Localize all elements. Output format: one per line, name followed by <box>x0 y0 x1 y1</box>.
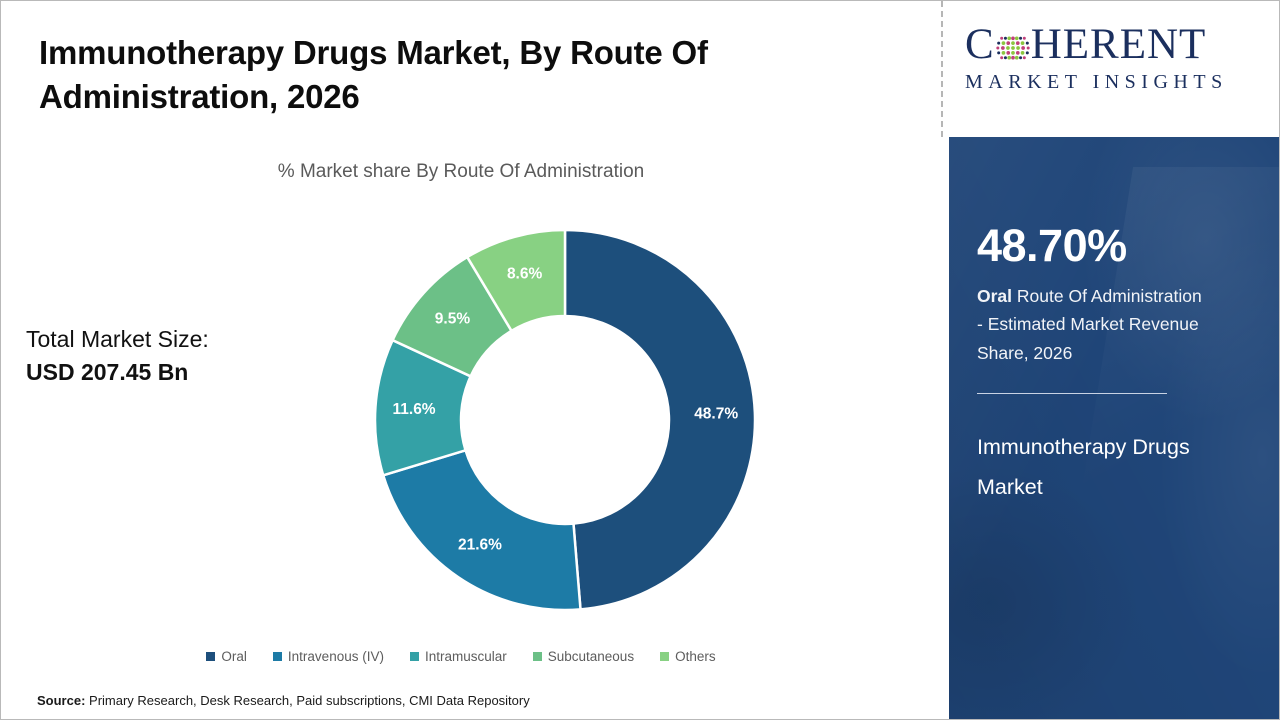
total-market-size: Total Market Size: USD 207.45 Bn <box>26 323 316 390</box>
source-text: Primary Research, Desk Research, Paid su… <box>85 693 529 708</box>
logo-tagline: MARKET INSIGHTS <box>965 71 1265 94</box>
chart-subtitle: % Market share By Route Of Administratio… <box>1 161 921 183</box>
donut-chart: 48.7%21.6%11.6%9.5%8.6% <box>373 228 757 612</box>
coherent-market-insights-logo: C HERENT MARKET INSIGHTS <box>965 23 1265 94</box>
infographic-page: Immunotherapy Drugs Market, By Route Of … <box>0 0 1280 720</box>
logo-letter-c: C <box>965 23 995 66</box>
logo-wordmark: C HERENT <box>965 23 1265 66</box>
legend-swatch-icon <box>206 652 215 661</box>
legend-item-others[interactable]: Others <box>660 649 716 664</box>
legend-item-subcutaneous[interactable]: Subcutaneous <box>533 649 634 664</box>
donut-label-intravenous-iv: 21.6% <box>458 537 502 554</box>
donut-label-subcutaneous: 9.5% <box>435 310 471 327</box>
legend-label: Intramuscular <box>425 649 507 664</box>
legend-label: Others <box>675 649 716 664</box>
source-label: Source: <box>37 693 85 708</box>
donut-label-intramuscular: 11.6% <box>393 401 436 418</box>
legend-swatch-icon <box>533 652 542 661</box>
side-panel-content: 48.70% Oral Route Of Administration - Es… <box>949 223 1279 508</box>
legend-swatch-icon <box>410 652 419 661</box>
highlight-stat: 48.70% <box>977 223 1251 268</box>
chart-legend: OralIntravenous (IV)IntramuscularSubcuta… <box>1 649 921 664</box>
legend-item-oral[interactable]: Oral <box>206 649 247 664</box>
page-title: Immunotherapy Drugs Market, By Route Of … <box>39 31 869 118</box>
dotted-globe-icon <box>996 30 1030 64</box>
highlight-description: Oral Route Of Administration - Estimated… <box>977 282 1205 367</box>
highlight-description-bold: Oral <box>977 286 1012 306</box>
legend-label: Intravenous (IV) <box>288 649 384 664</box>
donut-chart-svg: 48.7%21.6%11.6%9.5%8.6% <box>373 228 757 612</box>
side-panel: C HERENT MARKET INSIGHTS 48.70% Oral Rou… <box>949 1 1279 719</box>
legend-label: Oral <box>221 649 247 664</box>
side-panel-body: 48.70% Oral Route Of Administration - Es… <box>949 137 1279 719</box>
source-note: Source: Primary Research, Desk Research,… <box>37 693 530 708</box>
legend-item-intramuscular[interactable]: Intramuscular <box>410 649 507 664</box>
legend-label: Subcutaneous <box>548 649 634 664</box>
panel-divider-rule <box>977 393 1167 394</box>
donut-label-oral: 48.7% <box>694 405 738 422</box>
legend-swatch-icon <box>273 652 282 661</box>
logo-letters-herent: HERENT <box>1031 23 1207 66</box>
chart-area: Immunotherapy Drugs Market, By Route Of … <box>1 1 941 719</box>
logo-area: C HERENT MARKET INSIGHTS <box>949 1 1279 137</box>
total-market-label: Total Market Size: <box>26 323 316 356</box>
donut-slice-intravenous-iv[interactable] <box>383 450 580 610</box>
legend-swatch-icon <box>660 652 669 661</box>
market-name: Immunotherapy Drugs Market <box>977 428 1217 508</box>
donut-label-others: 8.6% <box>507 266 543 283</box>
vertical-dashed-divider <box>941 1 943 137</box>
legend-item-intravenous-iv[interactable]: Intravenous (IV) <box>273 649 384 664</box>
total-market-value: USD 207.45 Bn <box>26 356 316 389</box>
